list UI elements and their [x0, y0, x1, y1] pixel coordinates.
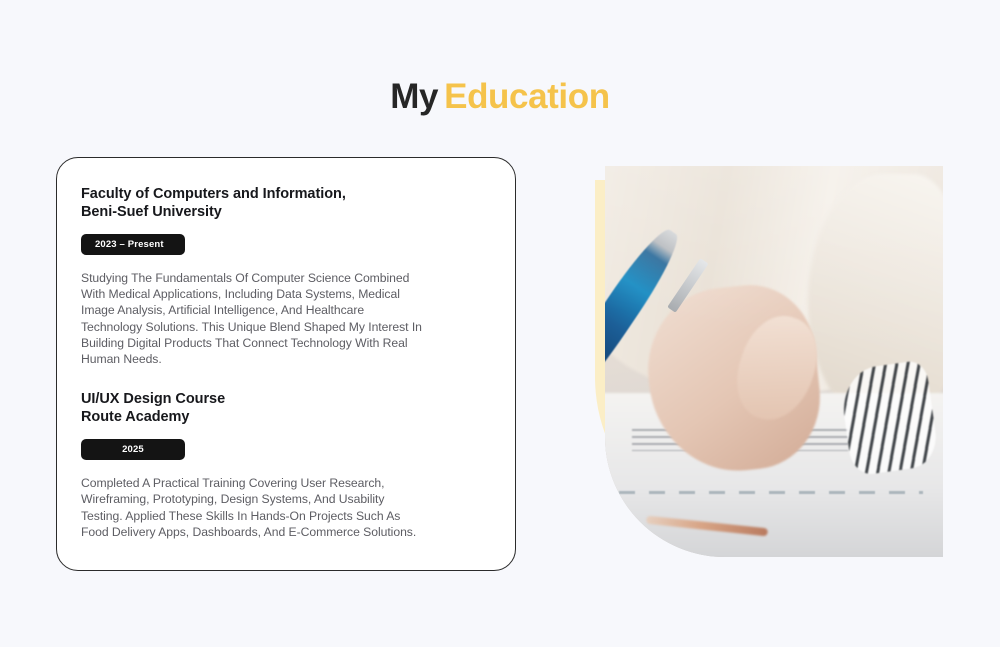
status-badge-date: 2025	[81, 439, 185, 460]
status-badge-date-range: 2023 – Present	[81, 234, 185, 255]
education-entry-description: Studying The Fundamentals Of Computer Sc…	[81, 270, 426, 367]
education-photo	[605, 166, 943, 557]
education-entry-heading: UI/UX Design Course Route Academy	[81, 391, 489, 426]
media-block	[584, 160, 964, 572]
page-title-accent: Education	[444, 77, 610, 116]
page-title: MyEducation	[0, 74, 1000, 120]
education-entry-heading: Faculty of Computers and Information, Be…	[81, 186, 489, 221]
education-card: Faculty of Computers and Information, Be…	[56, 157, 516, 571]
education-entry-description: Completed A Practical Training Covering …	[81, 475, 426, 540]
education-entry-university: Faculty of Computers and Information, Be…	[81, 186, 489, 367]
page-title-primary: My	[390, 77, 438, 116]
education-entry-course: UI/UX Design Course Route Academy 2025 C…	[81, 391, 489, 540]
photo-paper-lines	[619, 491, 923, 494]
